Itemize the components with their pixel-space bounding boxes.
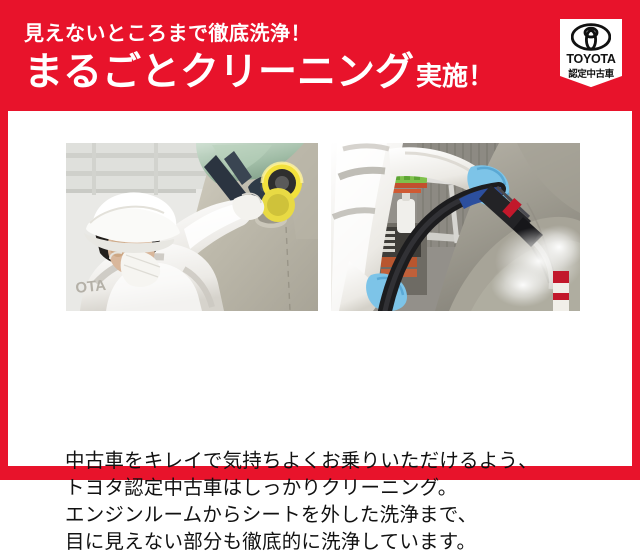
logo-wordmark: TOYOTA <box>560 52 622 66</box>
headline-suffix: 実施！ <box>414 62 494 92</box>
logo-sub-text: 認定中古車 <box>560 66 622 80</box>
toyota-cleaning-banner: 見えないところまで徹底洗浄！ まるごとクリーニング実施！ TOYOTA 認定中古… <box>0 0 640 480</box>
copy-line-1: 中古車をキレイで気持ちよくお乗りいただけるよう、 <box>65 447 605 474</box>
copy-line-3: エンジンルームからシートを外した洗浄まで、 <box>65 501 605 528</box>
copy-line-2: トヨタ認定中古車はしっかりクリーニング。 <box>65 474 605 501</box>
headline-main: まるごとクリーニング <box>24 50 414 95</box>
photo-interior-steam-cleaning <box>331 143 580 311</box>
banner-header: 見えないところまで徹底洗浄！ まるごとクリーニング実施！ TOYOTA 認定中古… <box>0 0 640 111</box>
header-kicker: 見えないところまで徹底洗浄！ <box>24 21 544 45</box>
logo-inner-panel: TOYOTA 認定中古車 <box>560 19 622 94</box>
photo-interior-steam-cleaning-image <box>331 143 580 311</box>
headline-block: 見えないところまで徹底洗浄！ まるごとクリーニング実施！ <box>24 21 544 100</box>
banner-body: OTA <box>8 111 632 466</box>
banner-body-frame: OTA <box>0 111 640 480</box>
headline-line: まるごとクリーニング実施！ <box>24 50 544 100</box>
svg-text:OTA: OTA <box>75 277 107 297</box>
photo-exterior-polishing: OTA <box>66 143 318 311</box>
photo-row: OTA <box>66 143 586 311</box>
body-copy: 中古車をキレイで気持ちよくお乗りいただけるよう、 トヨタ認定中古車はしっかりクリ… <box>65 447 605 555</box>
copy-line-4: 目に見えない部分も徹底的に洗浄しています。 <box>65 528 605 555</box>
toyota-certified-logo: TOYOTA 認定中古車 <box>557 16 625 97</box>
toyota-ellipse-icon <box>571 23 611 51</box>
photo-exterior-polishing-image: OTA <box>66 143 318 311</box>
